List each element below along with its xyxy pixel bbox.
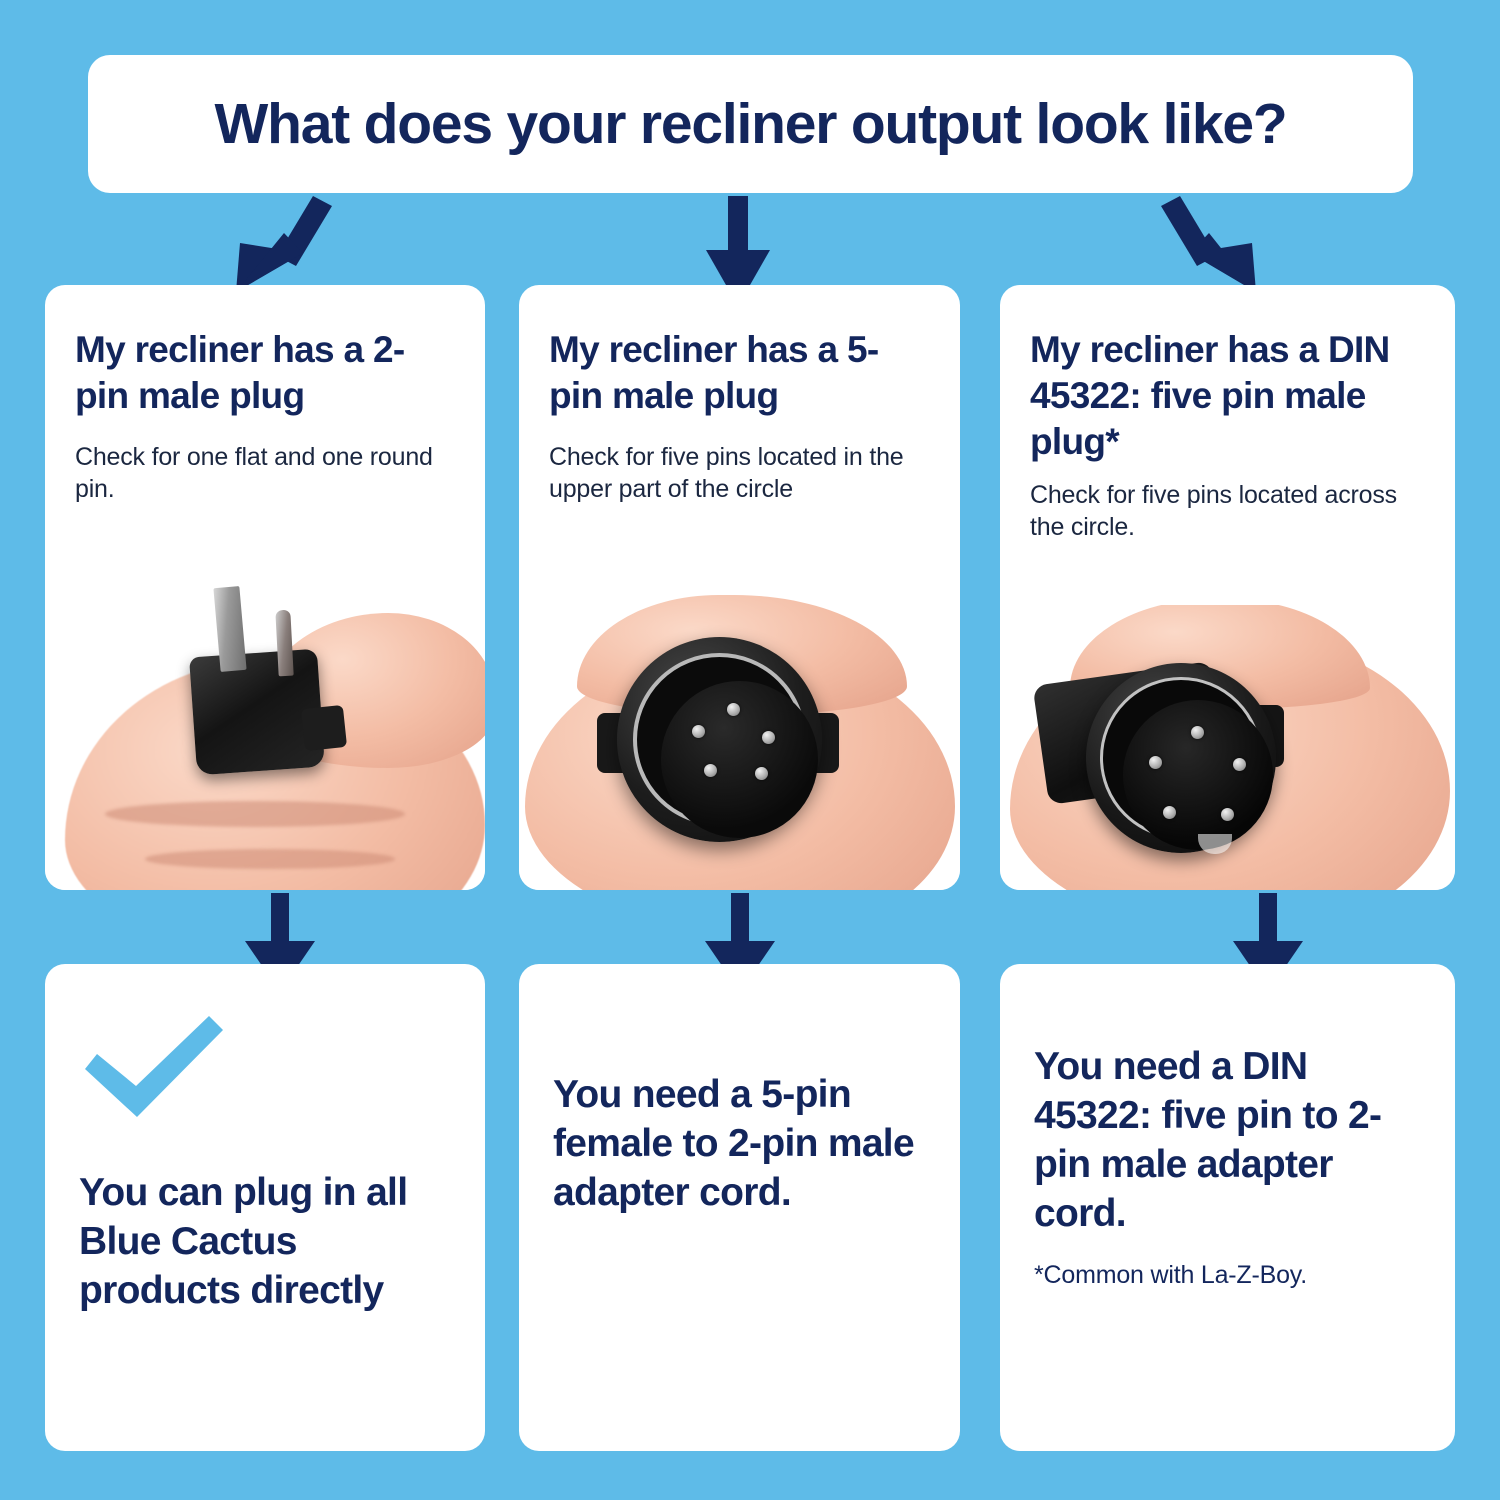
connector-barrel [1086, 663, 1276, 853]
result-card-body: You need a DIN 45322: five pin to 2-pin … [1000, 964, 1455, 1290]
result-card-din-adapter[interactable]: You need a DIN 45322: five pin to 2-pin … [1000, 964, 1455, 1451]
connector-pin [1149, 756, 1162, 769]
result-heading: You need a 5-pin female to 2-pin male ad… [553, 1070, 926, 1217]
connector-pin [1191, 726, 1204, 739]
option-description: Check for one flat and one round pin. [75, 441, 455, 506]
option-card-din-45322[interactable]: My recliner has a DIN 45322: five pin ma… [1000, 285, 1455, 890]
option-card-5-pin[interactable]: My recliner has a 5-pin male plug Check … [519, 285, 960, 890]
option-card-2-pin[interactable]: My recliner has a 2-pin male plug Check … [45, 285, 485, 890]
result-heading: You need a DIN 45322: five pin to 2-pin … [1034, 1042, 1425, 1239]
connector-metal-ring [1100, 677, 1262, 839]
finger-crease [105, 801, 405, 827]
title-banner: What does your recliner output look like… [88, 55, 1413, 193]
option-card-body: My recliner has a 5-pin male plug Check … [519, 285, 960, 506]
result-card-direct-plug[interactable]: You can plug in all Blue Cactus products… [45, 964, 485, 1451]
round-pin [275, 610, 293, 677]
connector-pin [692, 725, 705, 738]
photo-2-pin-plug [45, 565, 485, 890]
result-heading: You can plug in all Blue Cactus products… [79, 1168, 451, 1315]
checkmark-icon [79, 1012, 229, 1122]
result-card-body: You can plug in all Blue Cactus products… [45, 1168, 485, 1315]
option-card-body: My recliner has a DIN 45322: five pin ma… [1000, 285, 1455, 544]
connector-pin [1233, 758, 1246, 771]
option-description: Check for five pins located in the upper… [549, 441, 930, 506]
photo-din-45322-plug [1000, 605, 1455, 890]
infographic-canvas: What does your recliner output look like… [0, 0, 1500, 1500]
connector-metal-ring [633, 653, 806, 826]
option-heading: My recliner has a DIN 45322: five pin ma… [1030, 327, 1425, 465]
result-card-5-pin-adapter[interactable]: You need a 5-pin female to 2-pin male ad… [519, 964, 960, 1451]
result-footnote: *Common with La-Z-Boy. [1034, 1261, 1425, 1290]
option-card-body: My recliner has a 2-pin male plug Check … [45, 285, 485, 506]
connector-pin [755, 767, 768, 780]
connector-barrel [617, 637, 822, 842]
option-heading: My recliner has a 2-pin male plug [75, 327, 455, 419]
finger-crease [145, 849, 395, 869]
connector-pin [1221, 808, 1234, 821]
arrow-title-to-option-1 [236, 196, 332, 292]
connector-pin [762, 731, 775, 744]
option-heading: My recliner has a 5-pin male plug [549, 327, 930, 419]
connector-pin [1163, 806, 1176, 819]
result-card-body: You need a 5-pin female to 2-pin male ad… [519, 964, 960, 1217]
photo-5-pin-plug [519, 595, 960, 890]
plug-neck [301, 705, 347, 751]
connector-face [1123, 700, 1273, 850]
arrow-title-to-option-3 [1161, 196, 1256, 292]
connector-pin [704, 764, 717, 777]
page-title: What does your recliner output look like… [215, 91, 1287, 157]
option-description: Check for five pins located across the c… [1030, 479, 1425, 544]
connector-face [661, 681, 818, 838]
connector-pin [727, 703, 740, 716]
